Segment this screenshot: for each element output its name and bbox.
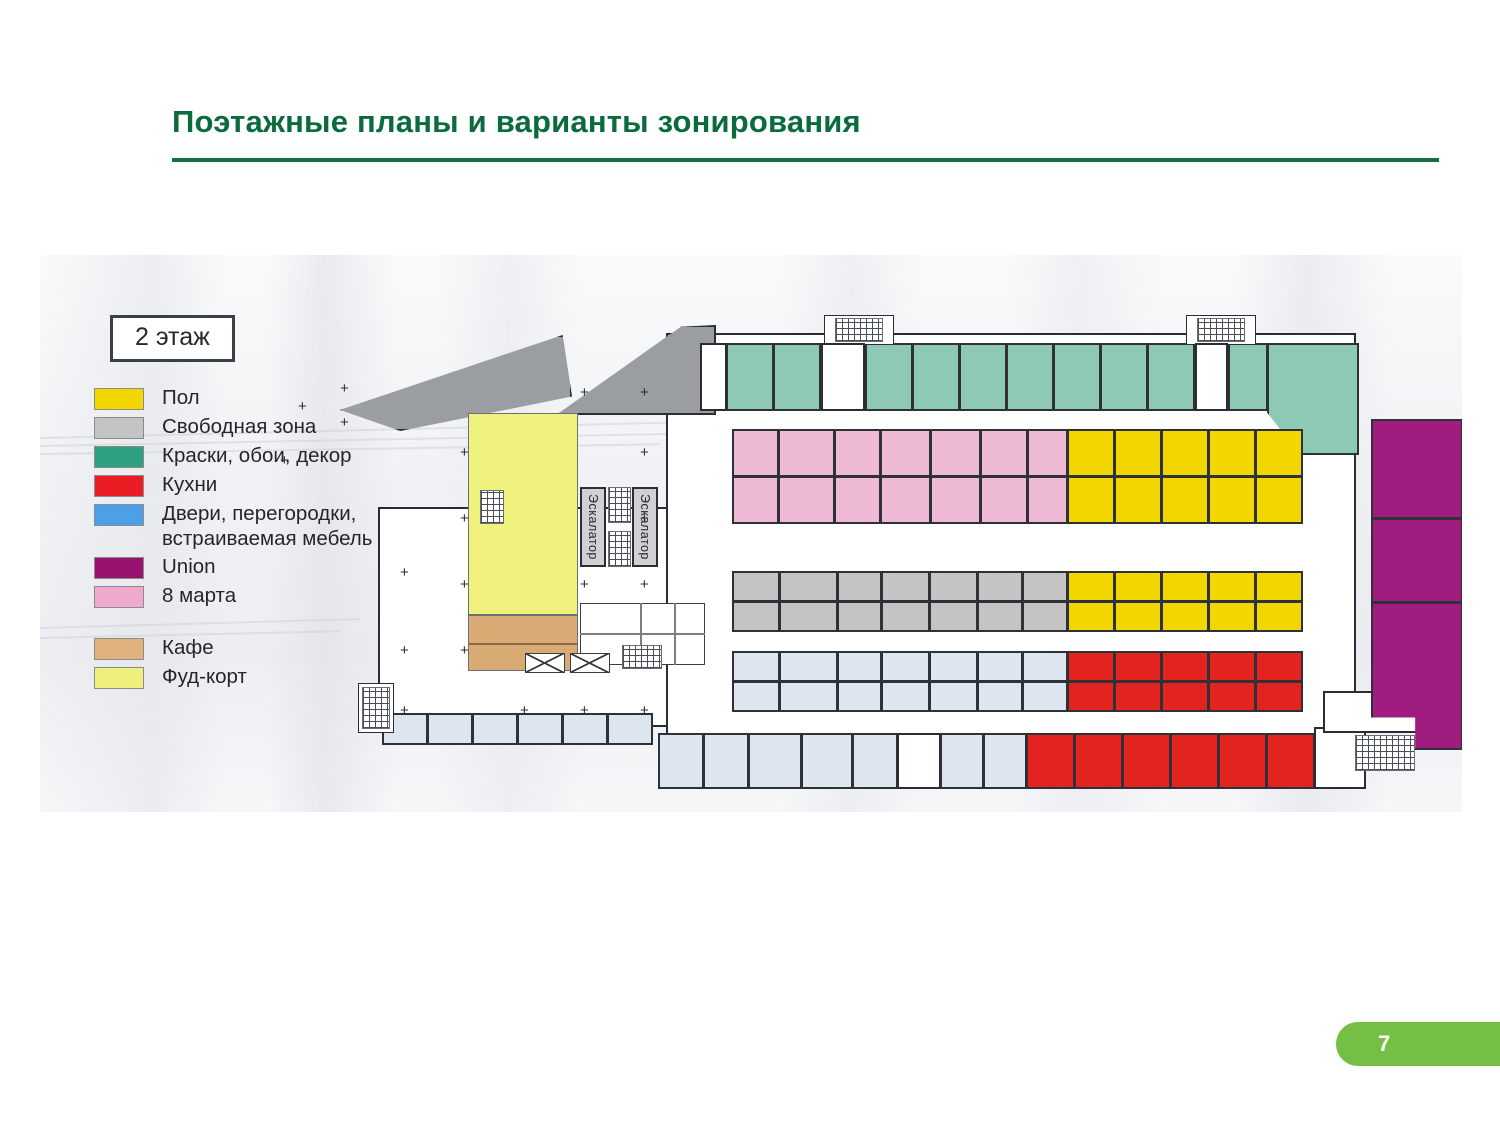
unit-kraski <box>726 343 774 411</box>
unit-svobodnaya <box>929 601 978 632</box>
unit-pol <box>1161 476 1209 524</box>
unit-kraski <box>1228 343 1268 411</box>
unit-dveri-outer <box>983 733 1027 789</box>
column-mark: + <box>340 381 349 396</box>
unit-kuhni-outer <box>1026 733 1075 789</box>
title-underline-rule <box>172 158 1439 162</box>
unit-kuhni <box>1208 651 1256 682</box>
unit-kuhni <box>1067 681 1115 712</box>
unit-dveri <box>881 681 930 712</box>
column-mark: + <box>640 703 649 718</box>
unit-kraski <box>912 343 960 411</box>
unit-8-marta <box>778 476 835 524</box>
unit-kuhni-outer <box>1074 733 1123 789</box>
unit-dveri <box>732 651 780 682</box>
unit-dveri-outer <box>852 733 898 789</box>
unit-kuhni-outer <box>1122 733 1171 789</box>
page-title: Поэтажные планы и варианты зонирования <box>172 104 1442 140</box>
unit-8-marta <box>980 429 1028 477</box>
unit-kuhni-outer <box>1266 733 1315 789</box>
stairwell-hatch-right <box>1197 318 1245 342</box>
stairwell-hatch-left-outer <box>362 687 390 729</box>
unit-kraski <box>959 343 1007 411</box>
escalator-left: Эскалатор <box>580 487 606 567</box>
unit-dveri-outer <box>748 733 802 789</box>
column-mark: + <box>460 511 469 526</box>
unit-dveri <box>929 651 978 682</box>
unit-dveri <box>837 651 882 682</box>
escalator-right: Эскалатор <box>632 487 658 567</box>
unit-pol <box>1114 429 1162 477</box>
unit-pol <box>1208 429 1256 477</box>
escalator-treads-lower <box>608 531 631 567</box>
unit-pol <box>1208 601 1256 632</box>
column-mark: + <box>298 399 307 414</box>
unit-pol <box>1208 476 1256 524</box>
unit-pol <box>1114 476 1162 524</box>
unit-kuhni <box>1161 681 1209 712</box>
stair-core-center <box>622 645 662 669</box>
unit-8-marta <box>834 429 881 477</box>
unit-dveri <box>977 681 1023 712</box>
stair-hatch-bottom-right <box>1355 735 1415 771</box>
unit-kuhni <box>1067 651 1115 682</box>
column-mark: + <box>340 415 349 430</box>
stair-gap-left <box>821 343 865 411</box>
column-mark: + <box>460 445 469 460</box>
column-mark: + <box>400 643 409 658</box>
service-core-divider <box>580 633 705 635</box>
unit-dveri-outer <box>658 733 704 789</box>
unit-kuhni <box>1114 681 1162 712</box>
unit-dveri <box>929 681 978 712</box>
unit-dveri <box>1022 651 1068 682</box>
column-mark: + <box>580 703 589 718</box>
unit-8-marta <box>834 476 881 524</box>
unit-kuhni <box>1255 681 1303 712</box>
unit-dveri-outer <box>801 733 853 789</box>
zone-svobodnaya-wedge <box>556 325 716 415</box>
unit-pol <box>1067 429 1115 477</box>
unit-svobodnaya <box>779 571 838 602</box>
unit-dveri <box>881 651 930 682</box>
service-core-divider <box>674 603 676 665</box>
unit-pol <box>1114 601 1162 632</box>
page-number-badge: 7 <box>1336 1022 1500 1066</box>
unit-dveri-outer <box>940 733 984 789</box>
unit-union <box>1371 419 1462 519</box>
unit-pol <box>1255 476 1303 524</box>
column-mark: + <box>640 577 649 592</box>
unit-8-marta <box>980 476 1028 524</box>
unit-pol <box>1255 429 1303 477</box>
unit-8-marta <box>930 429 981 477</box>
column-mark: + <box>400 565 409 580</box>
unit-kuhni <box>1255 651 1303 682</box>
unit-pol <box>1114 571 1162 602</box>
unit-kraski <box>1147 343 1195 411</box>
unit-svobodnaya <box>1022 571 1068 602</box>
page-number: 7 <box>1378 1031 1390 1057</box>
unit-kraski <box>773 343 821 411</box>
unit-svobodnaya <box>837 571 882 602</box>
unit-8-marta <box>880 476 931 524</box>
unit-svobodnaya <box>929 571 978 602</box>
floor-plan-figure: 2 этаж Пол Свободная зона Краски, обои, … <box>40 255 1462 812</box>
unit-kraski <box>1006 343 1054 411</box>
unit-8-marta <box>1027 476 1068 524</box>
unit-dveri <box>837 681 882 712</box>
unit-pol <box>1255 571 1303 602</box>
unit-pol <box>1067 476 1115 524</box>
unit-svobodnaya <box>977 571 1023 602</box>
column-mark: + <box>640 385 649 400</box>
unit-8-marta <box>930 476 981 524</box>
unit-pol <box>1067 571 1115 602</box>
entry-stub-top-left <box>700 343 727 411</box>
unit-union <box>1371 518 1462 603</box>
stairwell-hatch-left <box>835 318 883 342</box>
column-mark: + <box>640 445 649 460</box>
unit-8-marta <box>732 429 779 477</box>
unit-kraski <box>1100 343 1148 411</box>
escalator-label: Эскалатор <box>586 494 600 560</box>
unit-kraski <box>1053 343 1101 411</box>
unit-kuhni <box>1208 681 1256 712</box>
unit-kuhni-outer <box>1218 733 1267 789</box>
unit-8-marta <box>778 429 835 477</box>
unit-dveri-outer <box>703 733 749 789</box>
cafe-divider <box>468 643 578 645</box>
unit-svobodnaya <box>779 601 838 632</box>
unit-kuhni <box>1114 651 1162 682</box>
column-mark: + <box>580 577 589 592</box>
column-mark: + <box>520 703 529 718</box>
column-mark: + <box>280 453 289 468</box>
column-mark: + <box>460 577 469 592</box>
unit-pol <box>1161 429 1209 477</box>
unit-svobodnaya <box>732 601 780 632</box>
unit-dveri-outer <box>472 713 518 745</box>
unit-dveri <box>779 651 838 682</box>
unit-pol <box>1255 601 1303 632</box>
column-mark: + <box>640 511 649 526</box>
unit-8-marta <box>732 476 779 524</box>
unit-pol <box>1161 601 1209 632</box>
floor-plan-drawing: Эскалатор Эскалатор <box>40 255 1462 812</box>
unit-svobodnaya <box>881 571 930 602</box>
unit-dveri <box>977 651 1023 682</box>
unit-pol <box>1208 571 1256 602</box>
unit-svobodnaya <box>1022 601 1068 632</box>
lower-service-cross-b <box>570 653 610 673</box>
escalator-treads-upper <box>608 487 631 523</box>
unit-svobodnaya <box>977 601 1023 632</box>
column-mark: + <box>460 643 469 658</box>
unit-8-marta <box>880 429 931 477</box>
lower-service-cross-a <box>525 653 565 673</box>
unit-dveri-outer <box>427 713 473 745</box>
column-mark: + <box>580 385 589 400</box>
unit-dveri <box>1022 681 1068 712</box>
column-mark: + <box>400 703 409 718</box>
unit-pol <box>1161 571 1209 602</box>
unit-dveri <box>779 681 838 712</box>
unit-svobodnaya <box>732 571 780 602</box>
unit-svobodnaya <box>837 601 882 632</box>
unit-kuhni-outer <box>1170 733 1219 789</box>
unit-kuhni <box>1161 651 1209 682</box>
entrance-void-bottom <box>897 733 941 789</box>
unit-8-marta <box>1027 429 1068 477</box>
unit-svobodnaya <box>881 601 930 632</box>
unit-pol <box>1067 601 1115 632</box>
stair-gap-right <box>1195 343 1228 411</box>
unit-kraski <box>865 343 913 411</box>
unit-dveri <box>732 681 780 712</box>
stair-core-right <box>480 490 504 524</box>
